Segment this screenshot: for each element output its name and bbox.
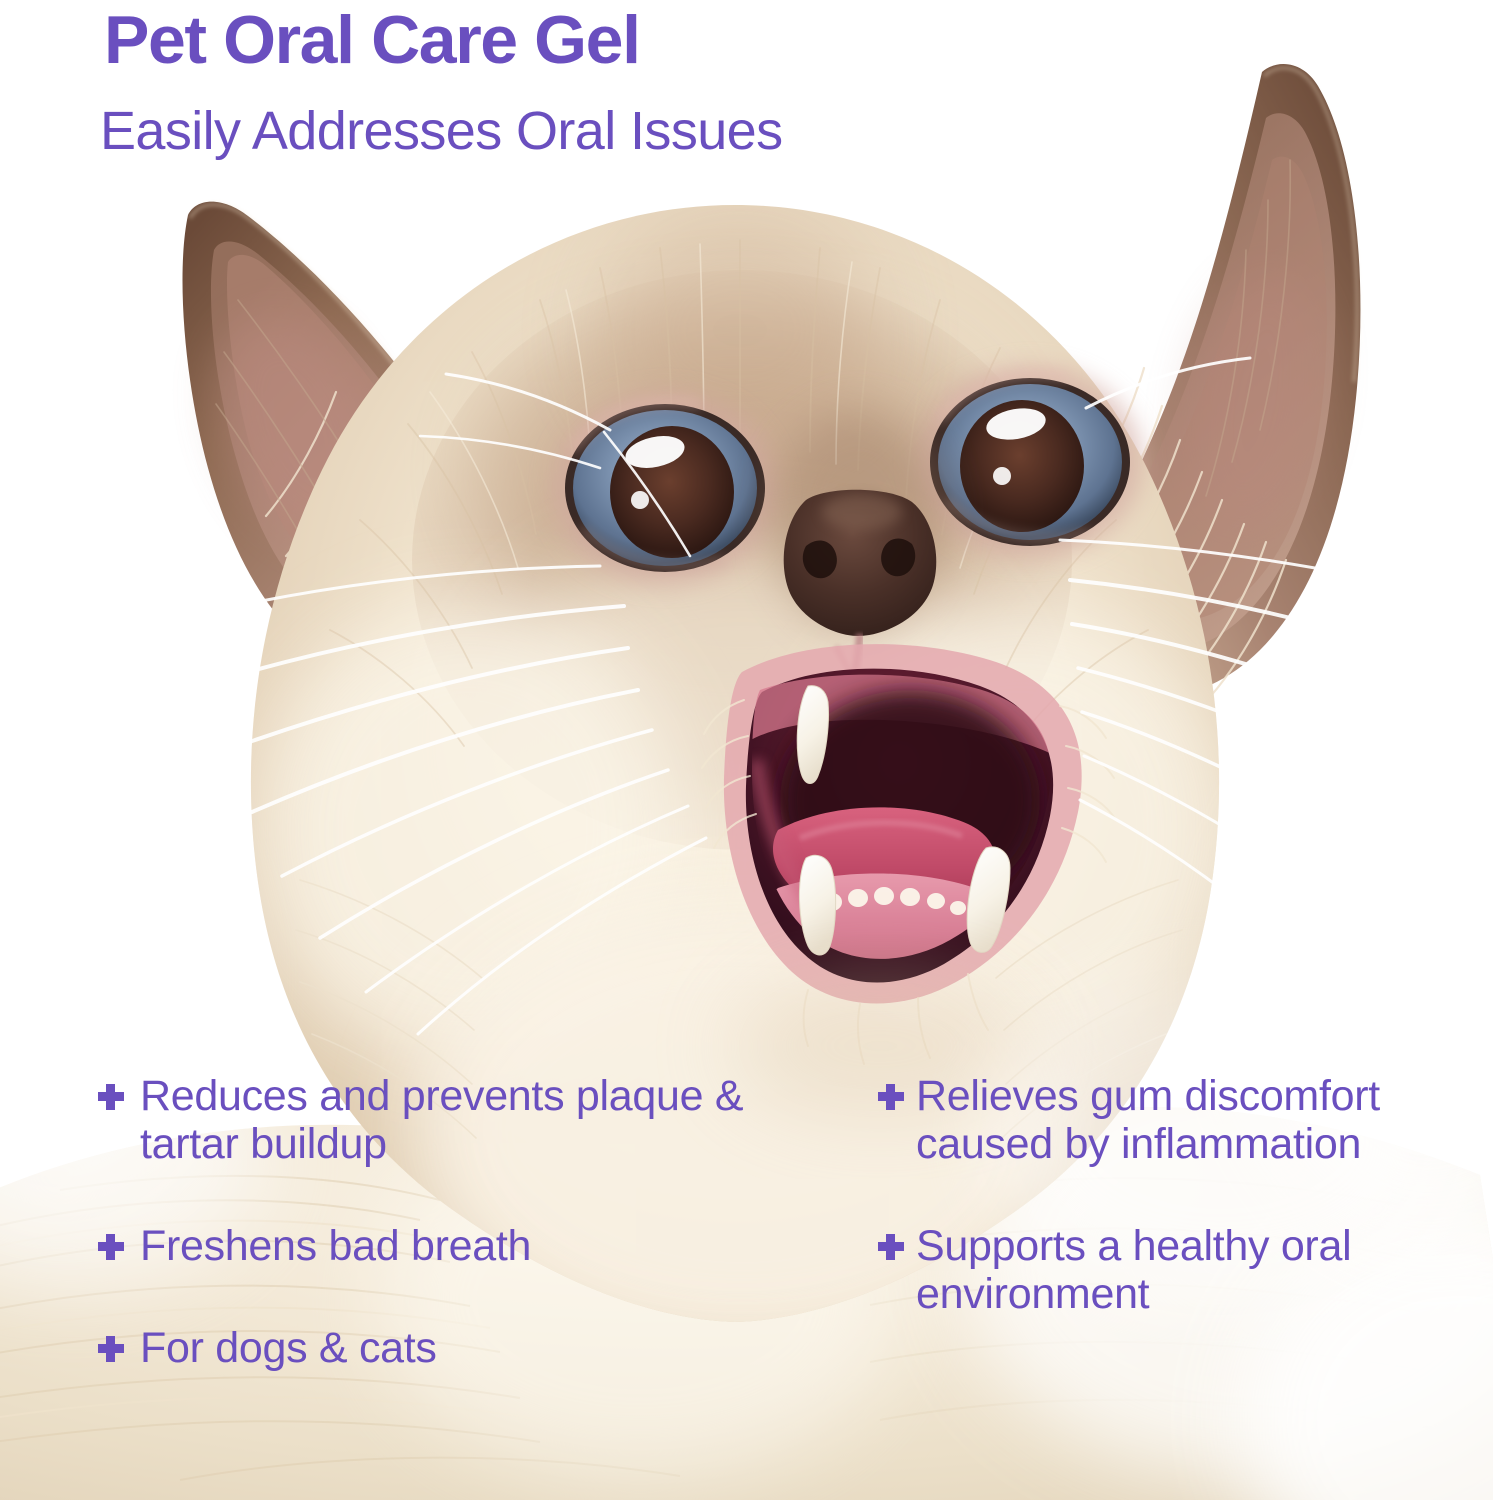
plus-icon xyxy=(876,1222,910,1262)
plus-icon xyxy=(96,1324,130,1364)
list-item: Relieves gum discomfort caused by inflam… xyxy=(876,1072,1491,1168)
plus-icon xyxy=(876,1072,910,1112)
list-item-label: For dogs & cats xyxy=(140,1324,437,1372)
list-item-label: Supports a healthy oral environment xyxy=(916,1222,1491,1318)
list-item: For dogs & cats xyxy=(96,1324,796,1372)
text-overlay: Pet Oral Care Gel Easily Addresses Oral … xyxy=(0,0,1493,1500)
list-item-label: Freshens bad breath xyxy=(140,1222,531,1270)
benefit-column-right: Relieves gum discomfort caused by inflam… xyxy=(876,1072,1491,1359)
list-item: Supports a healthy oral environment xyxy=(876,1222,1491,1318)
list-item-label: Reduces and prevents plaque & tartar bui… xyxy=(140,1072,796,1168)
list-item: Freshens bad breath xyxy=(96,1222,796,1270)
list-item: Reduces and prevents plaque & tartar bui… xyxy=(96,1072,796,1168)
page-subtitle: Easily Addresses Oral Issues xyxy=(100,104,783,158)
plus-icon xyxy=(96,1072,130,1112)
product-infographic: Pet Oral Care Gel Easily Addresses Oral … xyxy=(0,0,1493,1500)
list-item-label: Relieves gum discomfort caused by inflam… xyxy=(916,1072,1491,1168)
page-title: Pet Oral Care Gel xyxy=(104,6,640,74)
benefit-column-left: Reduces and prevents plaque & tartar bui… xyxy=(96,1072,796,1413)
plus-icon xyxy=(96,1222,130,1262)
